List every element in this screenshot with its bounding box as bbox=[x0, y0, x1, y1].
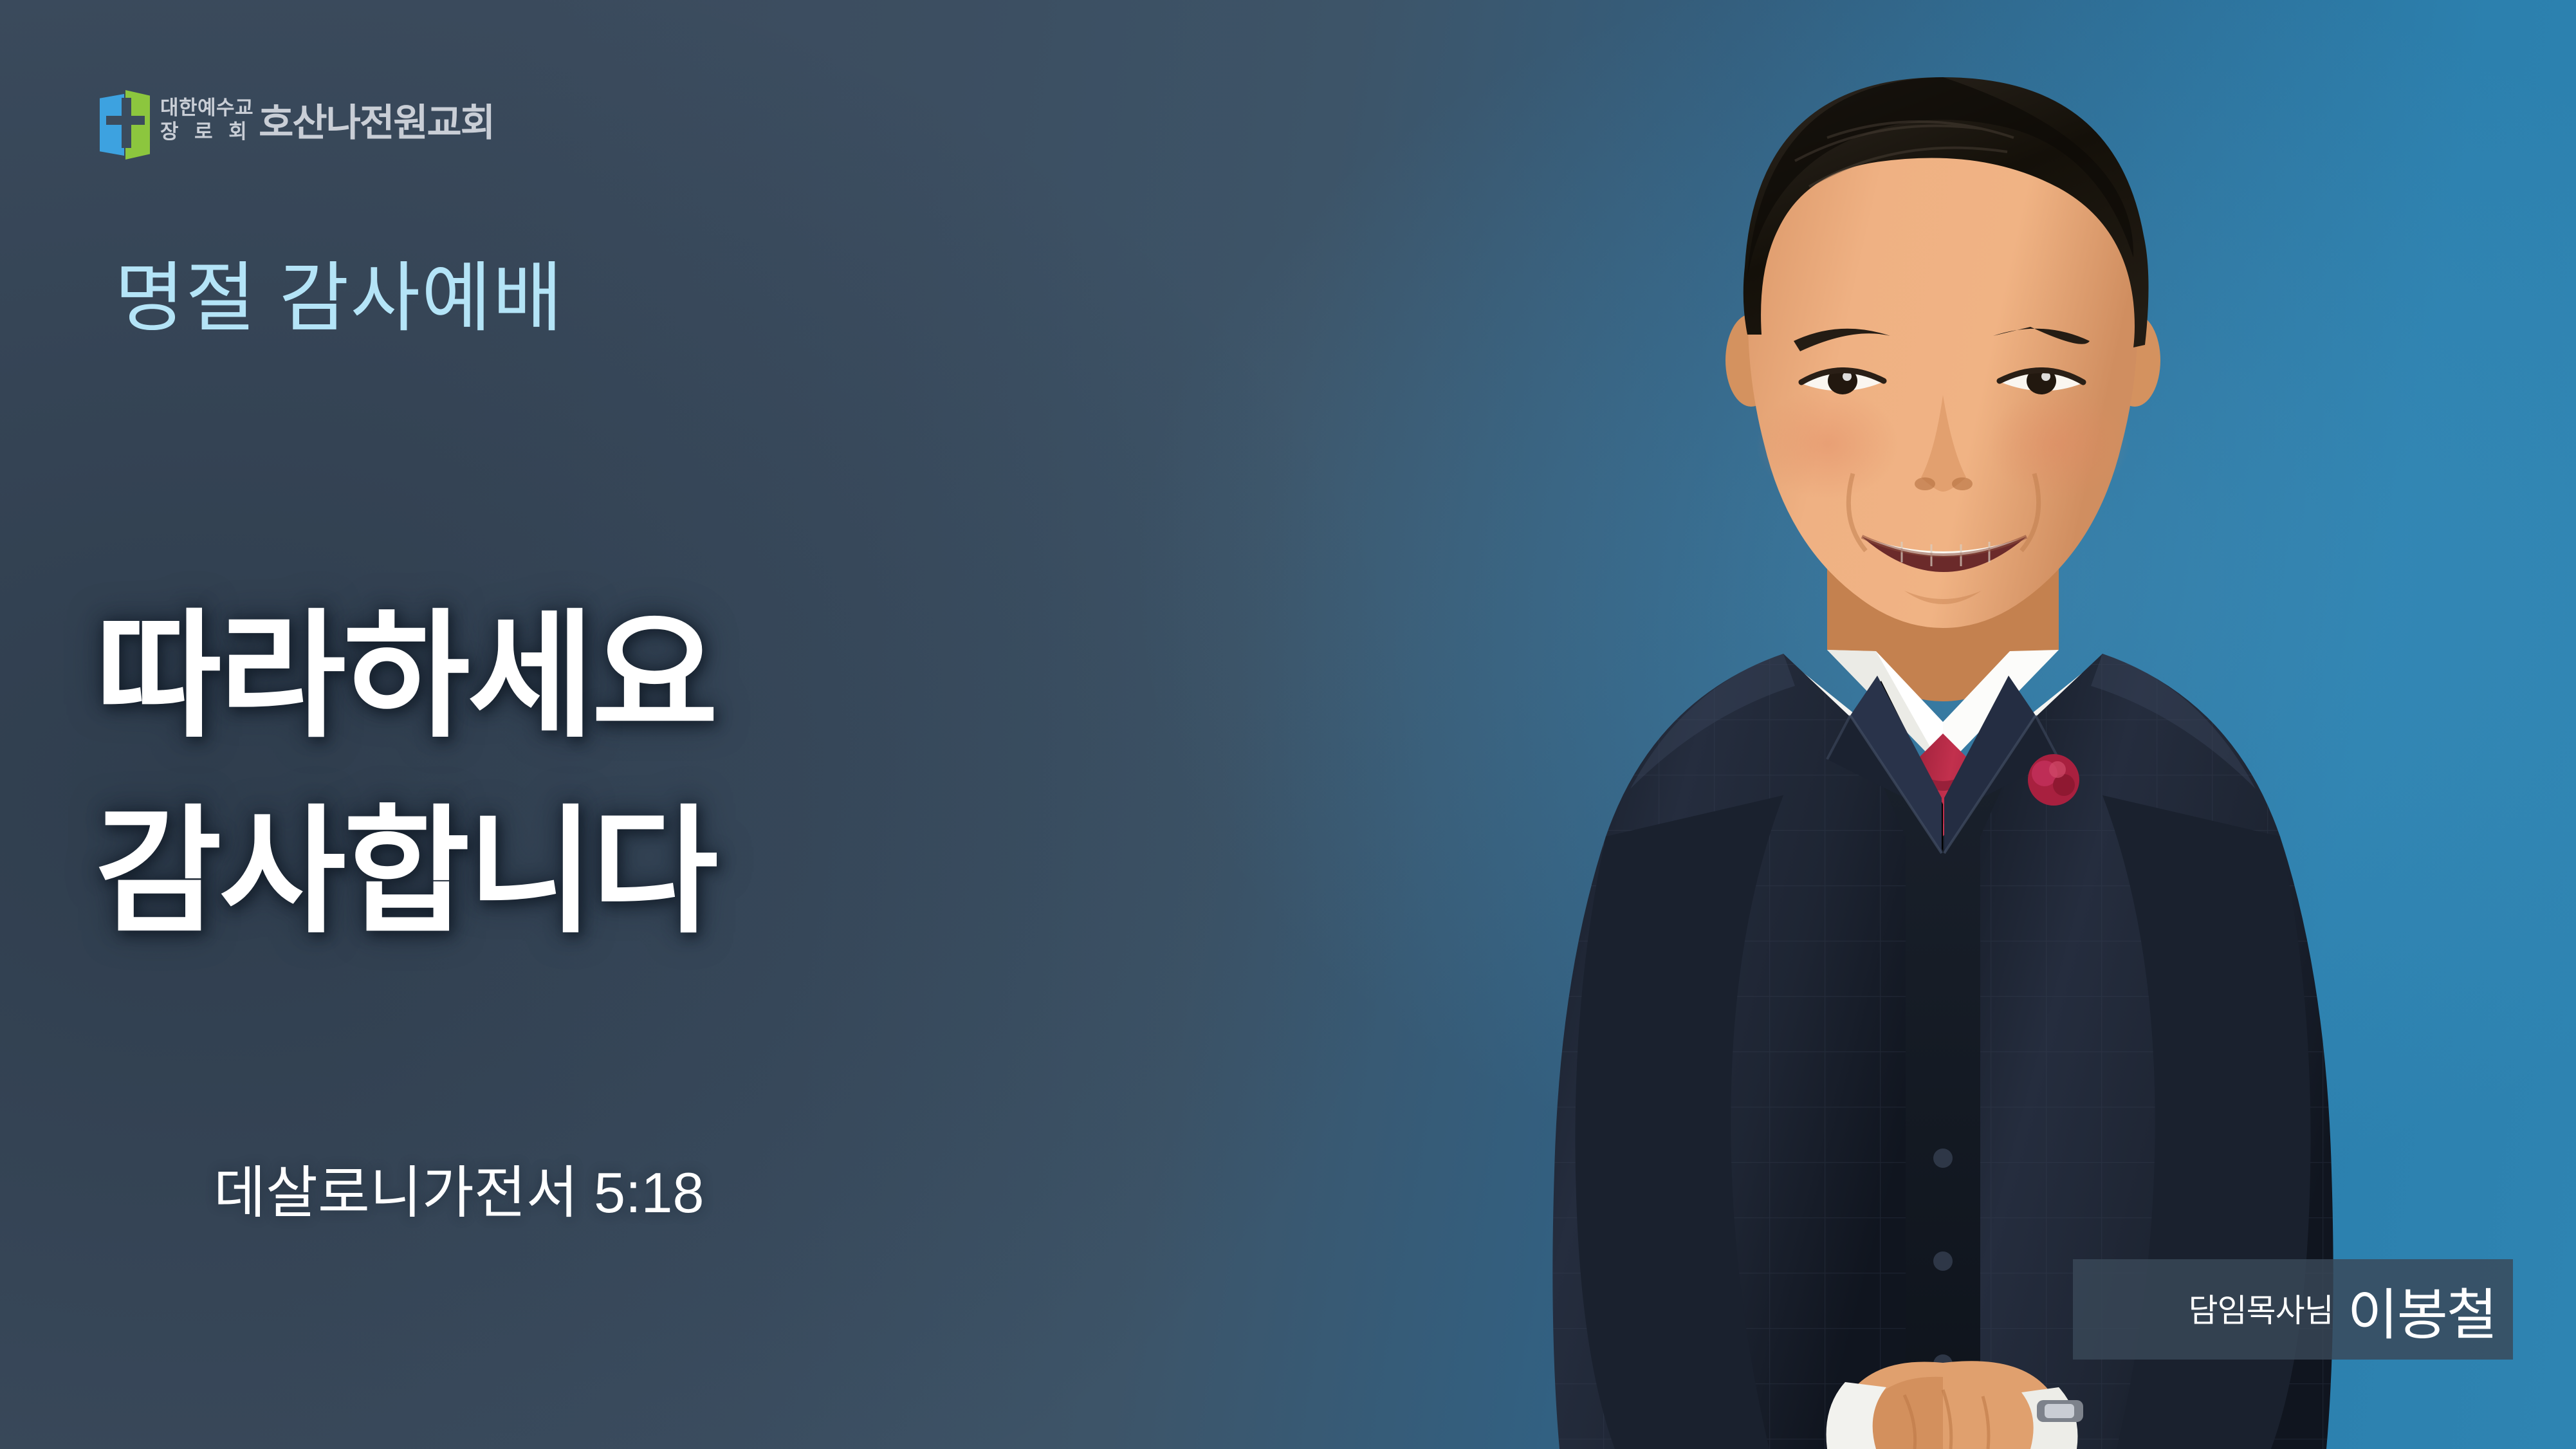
sermon-title: 따라하세요 감사합니다 bbox=[95, 579, 1060, 970]
sermon-title-line-1: 따라하세요 bbox=[95, 579, 1060, 775]
church-logo: 대한예수교 장 로 회 호산나전원교회 bbox=[100, 90, 494, 160]
bible-verse-reference: 데살로니가전서 5:18 bbox=[214, 1147, 704, 1229]
open-door-cross-icon bbox=[100, 90, 150, 160]
speaker-badge: 담임목사님 이봉철 bbox=[2073, 1259, 2513, 1360]
denomination-text: 대한예수교 장 로 회 bbox=[160, 97, 253, 143]
denomination-line-1: 대한예수교 bbox=[160, 97, 253, 120]
logo-cross-horizontal bbox=[106, 116, 145, 125]
pastor-portrait bbox=[1493, 0, 2406, 1449]
denomination-line-2: 장 로 회 bbox=[160, 120, 253, 144]
service-subtitle: 명절 감사예배 bbox=[115, 257, 564, 341]
speaker-role: 담임목사님 bbox=[2189, 1285, 2333, 1334]
church-name-text: 호산나전원교회 bbox=[259, 104, 494, 143]
worship-title-slide: 대한예수교 장 로 회 호산나전원교회 명절 감사예배 따라하세요 감사합니다 … bbox=[0, 0, 2576, 1449]
logo-wordmark: 대한예수교 장 로 회 호산나전원교회 bbox=[160, 97, 494, 143]
logo-panel-left bbox=[100, 94, 124, 156]
speaker-name: 이봉철 bbox=[2348, 1269, 2496, 1350]
sermon-title-line-2: 감사합니다 bbox=[95, 775, 1060, 970]
